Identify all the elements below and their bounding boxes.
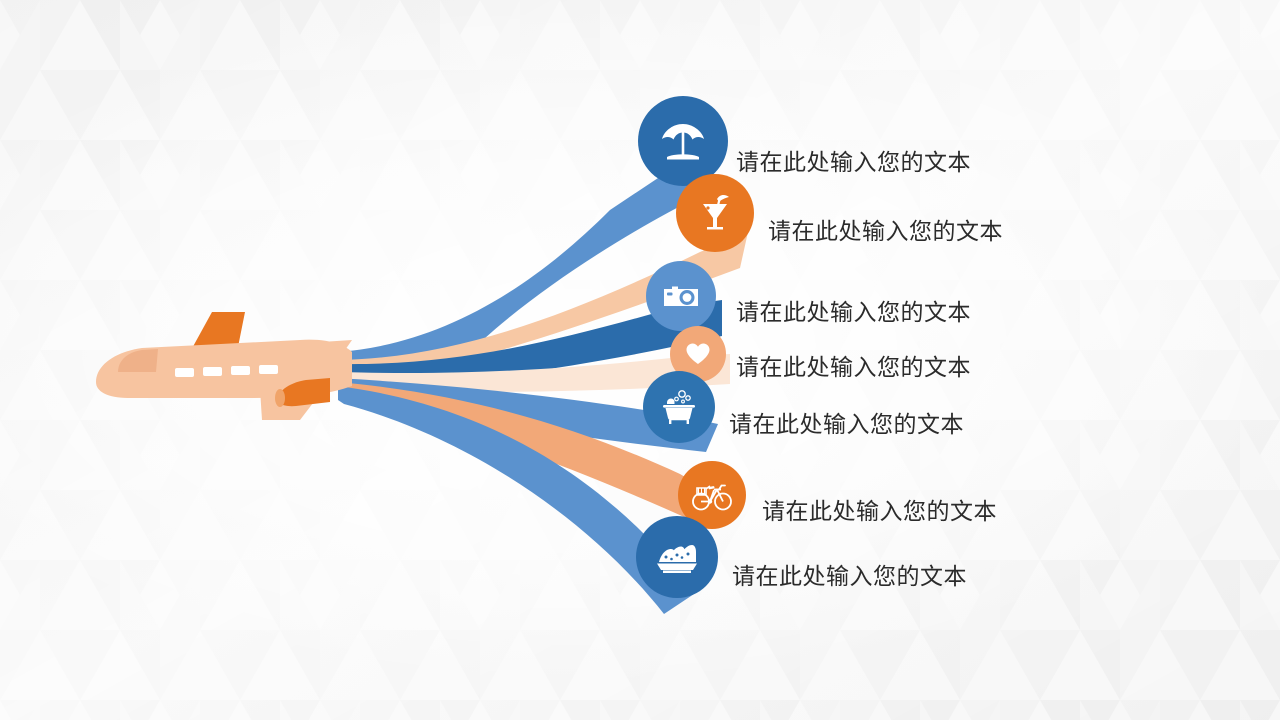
opera-house-icon [652, 532, 702, 582]
badge-cocktail[interactable] [676, 174, 754, 252]
airplane-illustration [96, 312, 352, 420]
item-label-1: 请在此处输入您的文本 [736, 152, 971, 175]
bicycle-icon [690, 473, 734, 517]
cocktail-icon [692, 190, 738, 236]
beach-umbrella-icon [657, 115, 709, 167]
badge-camera[interactable] [646, 261, 716, 331]
bathtub-icon [657, 385, 701, 429]
plane-window [203, 367, 222, 376]
badge-bathtub[interactable] [643, 371, 715, 443]
camera-icon [660, 275, 702, 317]
item-label-3: 请在此处输入您的文本 [736, 302, 971, 325]
plane-and-trails-artwork [0, 0, 1280, 720]
plane-window [259, 365, 278, 374]
item-label-2: 请在此处输入您的文本 [768, 221, 1003, 244]
heart-icon [683, 339, 713, 369]
item-label-5: 请在此处输入您的文本 [729, 414, 964, 437]
slide-canvas: 请在此处输入您的文本 请在此处输入您的文本 请在此处输入您的文本 [0, 0, 1280, 720]
badge-opera-house[interactable] [636, 516, 718, 598]
plane-window [231, 366, 250, 375]
item-label-7: 请在此处输入您的文本 [732, 566, 967, 589]
plane-engine-intake [275, 389, 285, 407]
badge-beach-umbrella[interactable] [638, 96, 728, 186]
plane-window [175, 368, 194, 377]
item-label-4: 请在此处输入您的文本 [736, 357, 971, 380]
item-label-6: 请在此处输入您的文本 [762, 501, 997, 524]
